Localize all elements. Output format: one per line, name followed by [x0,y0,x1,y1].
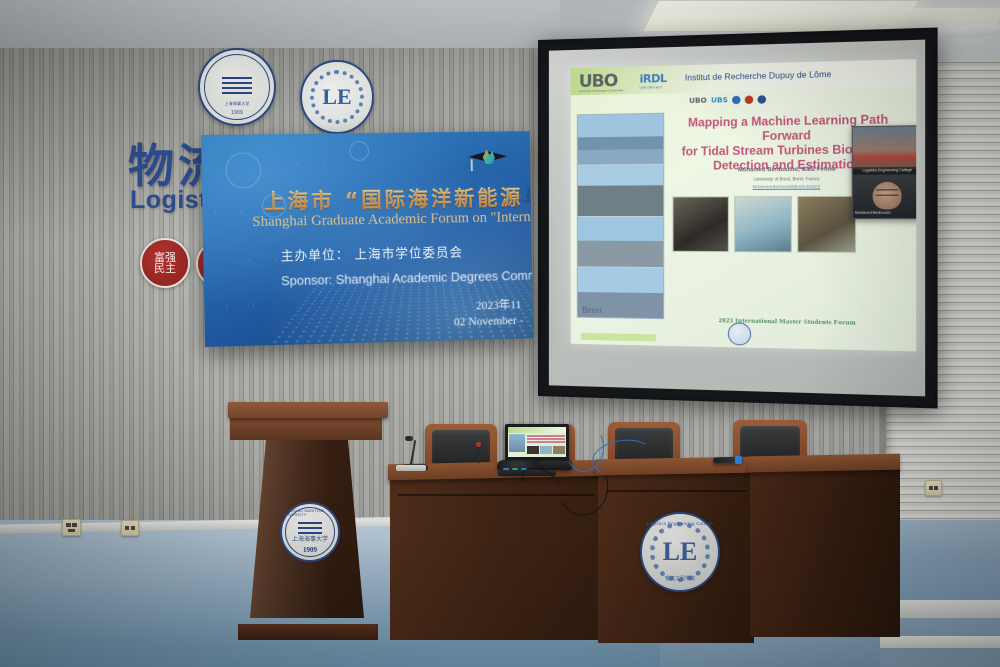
photo-sailboats: Brest [578,267,663,318]
podium-seal-arc: SHANGHAI MARITIME UNIVERSITY [282,509,338,517]
slide-footer: 2023 International Master Students Forum [668,316,909,328]
microphone-blue-band [735,456,742,464]
partner-logo-4-icon [745,96,753,104]
laptop-slide-band [508,427,566,433]
network-jack[interactable] [121,520,139,536]
irdl-subtitle: UMR CNRS 6027 [640,85,663,90]
podium-base [238,624,378,640]
slide-photo-collage: Brest [577,113,664,319]
desk-college-seal-icon: Logistics Engineering College LE 物流工程学院 [640,512,720,592]
desk-seal-arc: Logistics Engineering College [647,521,714,526]
stage-step-face-2 [880,648,1000,667]
power-outlet[interactable] [62,519,81,536]
laptop-slide-thumbs [527,446,565,454]
lectern-podium[interactable]: SHANGHAI MARITIME UNIVERSITY 上海海事大学 1909 [228,402,388,640]
podium-university-seal-icon: SHANGHAI MARITIME UNIVERSITY 上海海事大学 1909 [280,502,340,562]
desk-seal-cn: 物流工程学院 [665,575,695,582]
microphone-stem-2[interactable] [478,445,480,463]
desk-top-right [748,454,900,473]
emblem-cn-label: 上海海事大学 [224,101,249,107]
thumb-turbine [672,196,728,252]
video-room-view [853,126,916,169]
slogan-sticker: 富强 民主 [140,238,190,288]
university-seal-icon [728,322,751,345]
sticker-line-2: 民主 [154,263,176,274]
graduation-cap-logo [469,145,508,171]
slide-url-highlight [581,333,656,342]
photo-tower [578,165,663,215]
emblem-year-label: 1909 [231,110,243,116]
banner-date-chinese: 2023年11 [476,296,522,314]
laptop-lid [505,424,569,462]
podium-front-panel [230,416,382,440]
podium-seal-cn: 上海海事大学 [292,534,328,543]
desk-front-right [750,467,900,637]
ship-emblem-icon: 上海海事大学 1909 [198,48,276,126]
irdl-logo: iRDL [640,72,667,86]
photo-caption: Brest [582,305,602,315]
photo-lighthouse [578,114,663,165]
desk-groove-middle [606,490,746,492]
microphone-indicator-icon [476,442,481,447]
video-call-panel[interactable]: Logistics Engineering College Mohamed Be… [852,125,916,219]
partner-logos-row: UBO UBS [689,93,766,107]
banner-date-english: 02 November - [454,313,524,329]
projection-surface: UBO Université de Bretagne Occidentale i… [549,40,925,397]
participant-name: Mohamed Benbouzid [855,211,890,215]
laptop-slide-title [527,435,565,444]
ceiling-light-panel-2 [875,8,1000,28]
lecture-hall-photo: 物流 Logisti 上海海事大学 1909 LE 富强 民主 文明 和谐 UB… [0,0,1000,667]
banner-host-chinese: 主办单位： 上海市学位委员会 [280,242,463,264]
laptop-screen [508,427,566,457]
podium-seal-year: 1909 [303,546,317,554]
thumb-biofouling [797,196,856,253]
photo-harbour [578,216,663,266]
event-banner: 上海市 “国际海洋新能源与 Shanghai Graduate Academic… [201,131,533,347]
slide-thumbnail-row [672,196,856,253]
power-strip[interactable] [396,465,426,471]
partner-logo-1: UBO [689,96,707,105]
partner-logo-5-icon [758,95,767,103]
thumb-underwater [734,196,792,252]
partner-logo-2: UBS [711,96,728,105]
microphone-capsule-icon [405,436,413,441]
gear-emblem-icon: LE [300,60,374,134]
laptop-slide-photos [509,434,525,452]
podium-top-surface [228,402,388,418]
projection-screen: UBO Université de Bretagne Occidentale i… [538,27,938,408]
presentation-slide: UBO Université de Bretagne Occidentale i… [571,59,916,351]
network-jack-right[interactable] [925,480,942,496]
partner-logo-3-icon [732,96,740,104]
banner-title-english: Shanghai Graduate Academic Forum on "Int… [252,209,529,231]
glasses-icon [876,189,898,195]
